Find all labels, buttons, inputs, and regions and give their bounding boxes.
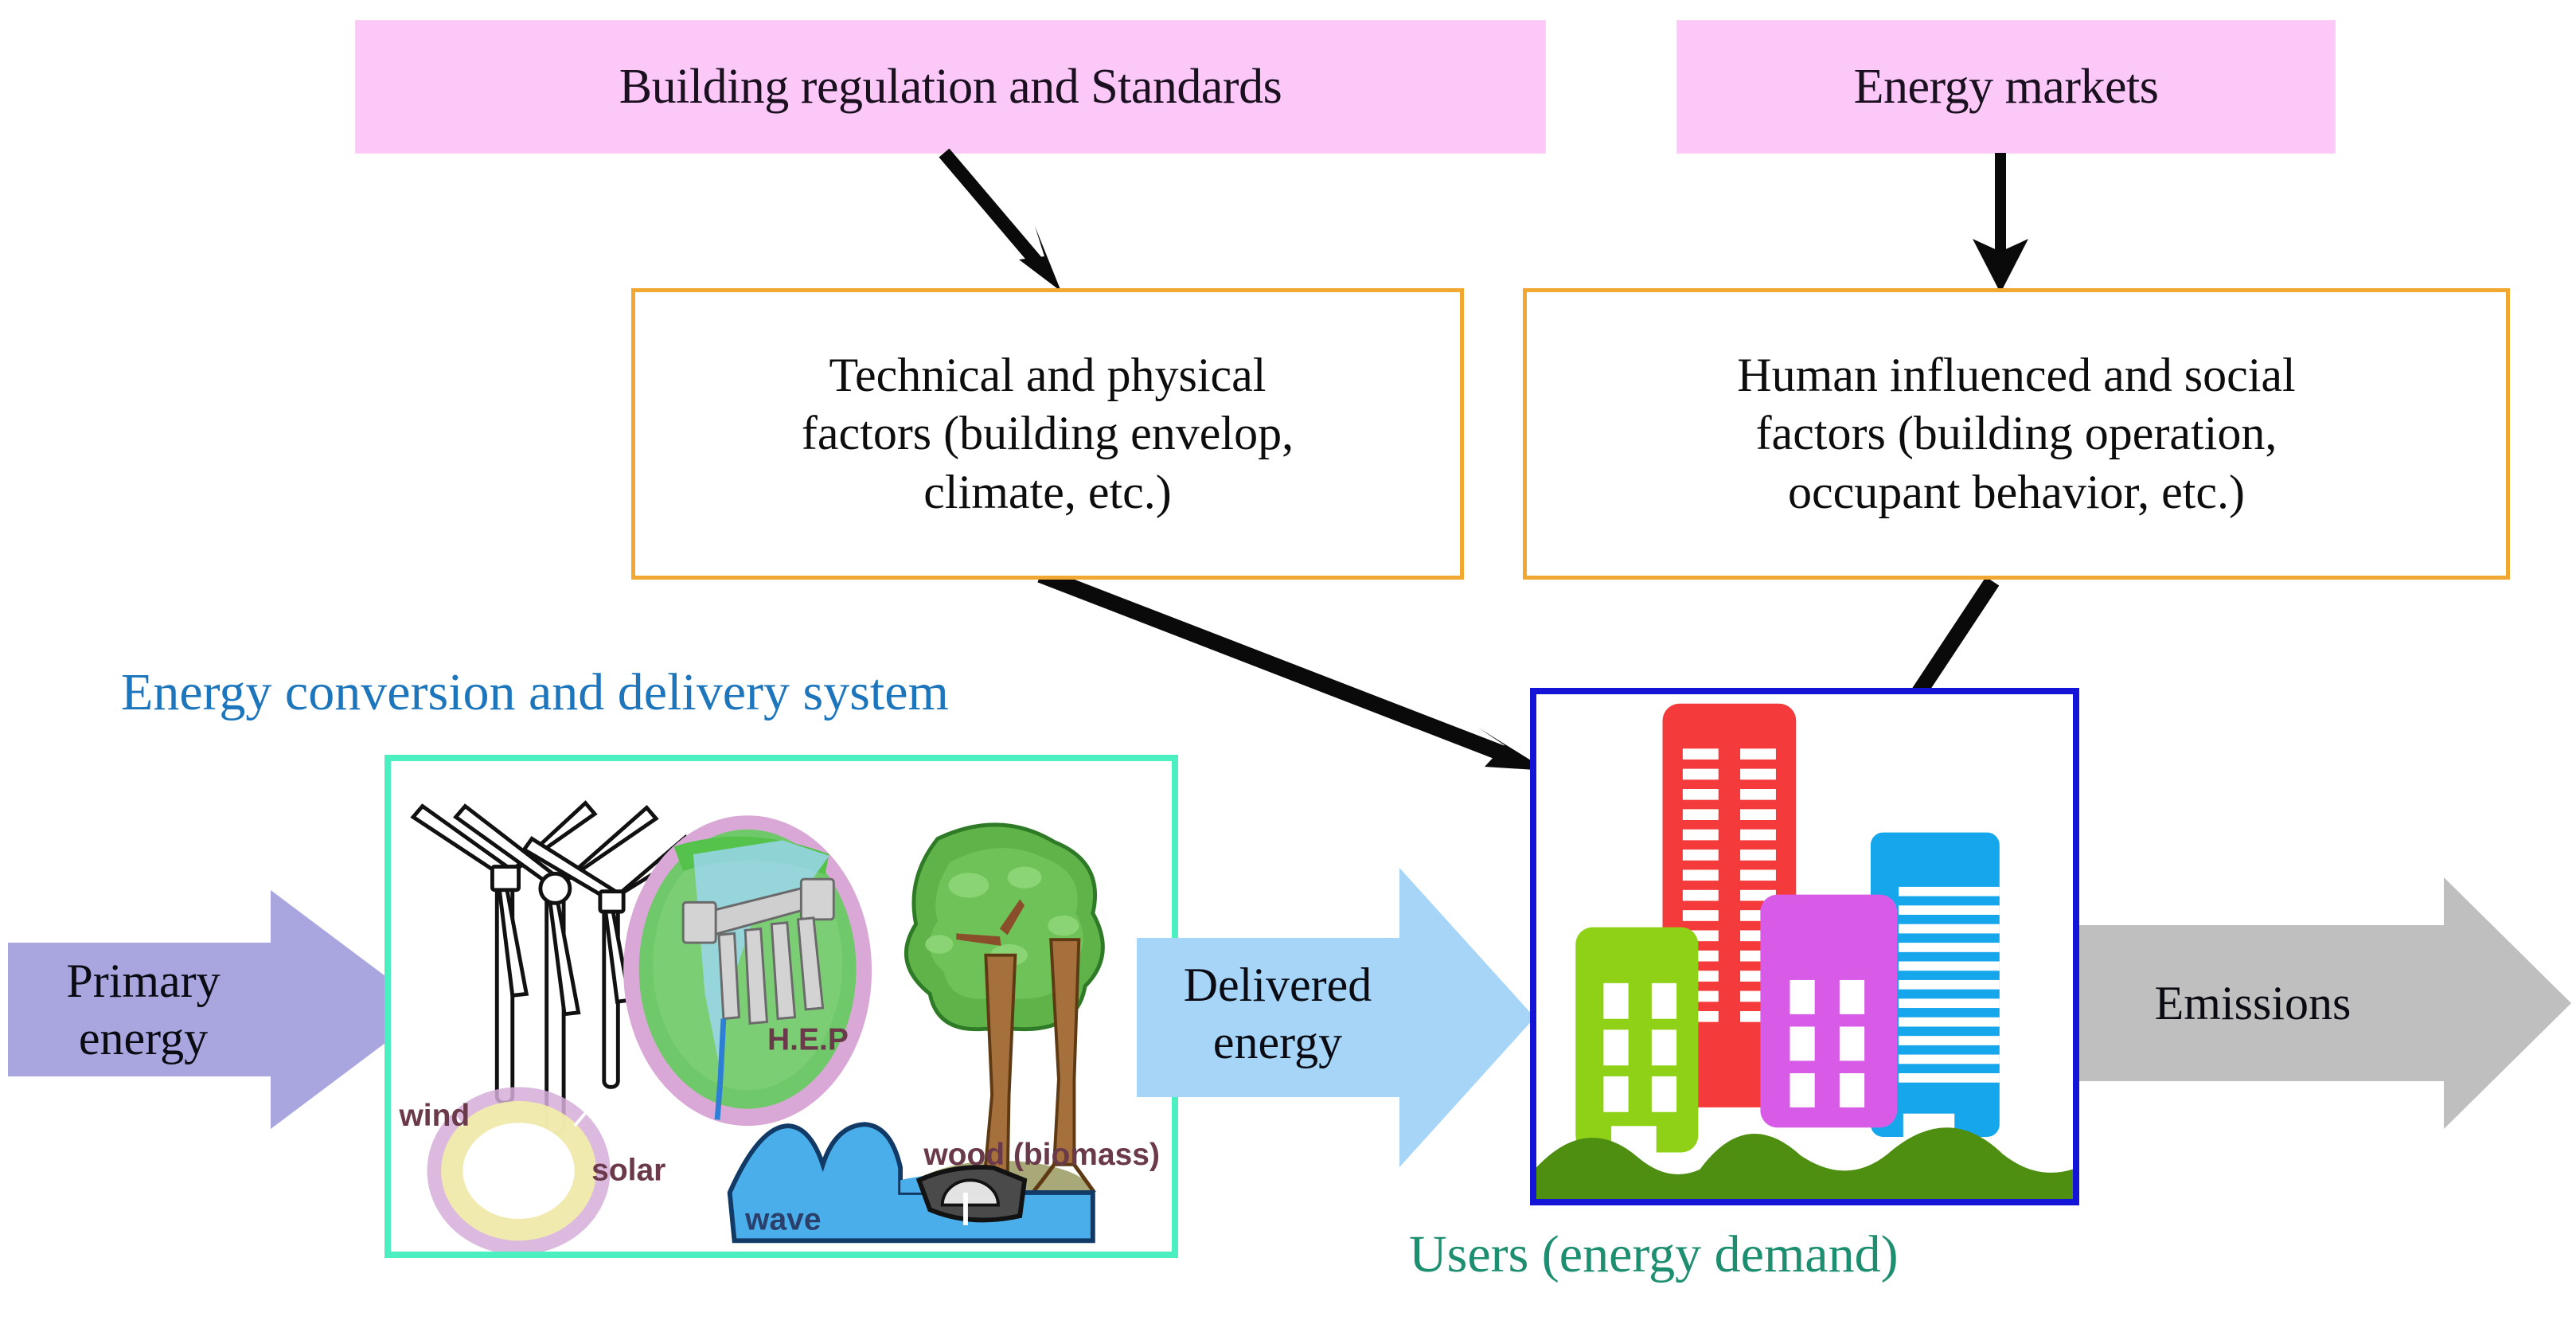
factor-box-technical-physical: Technical and physical factors (building… <box>631 288 1464 580</box>
flow-arrow-emissions-label: Emissions <box>2070 947 2436 1059</box>
wind-label: wind <box>398 1099 470 1133</box>
energy-sources-clipart: H.E.P wood (biomass) <box>391 761 1172 1252</box>
emissions-line1: Emissions <box>2155 977 2352 1029</box>
building-magenta <box>1760 895 1897 1128</box>
caption-users-energy-demand: Users (energy demand) <box>1409 1224 1899 1285</box>
arrow-markets-to-human <box>1973 153 2028 293</box>
top-box-building-regulation-label: Building regulation and Standards <box>619 59 1282 115</box>
city-buildings-clipart <box>1536 694 2073 1199</box>
arrow-technical-to-users <box>1040 575 1548 771</box>
caption-energy-conversion: Energy conversion and delivery system <box>121 662 949 723</box>
top-box-building-regulation: Building regulation and Standards <box>356 21 1545 153</box>
delivered-energy-line2: energy <box>1146 1014 1409 1071</box>
hydroelectric-power-clipart: H.E.P <box>623 815 872 1126</box>
factor-technical-line1: Technical and physical <box>802 346 1294 404</box>
solar-label: solar <box>591 1153 665 1187</box>
primary-energy-line2: energy <box>24 1010 263 1067</box>
top-box-energy-markets-label: Energy markets <box>1854 59 2159 115</box>
factor-human-line1: Human influenced and social <box>1737 346 2295 404</box>
energy-conversion-box: H.E.P wood (biomass) <box>384 755 1178 1258</box>
flow-arrow-delivered-energy-label: Delivered energy <box>1146 930 1409 1097</box>
caption-energy-conversion-label: Energy conversion and delivery system <box>121 663 949 721</box>
factor-technical-line2: factors (building envelop, <box>802 404 1294 463</box>
factor-technical-line3: climate, etc.) <box>802 463 1294 521</box>
top-box-energy-markets: Energy markets <box>1677 21 2335 153</box>
hep-label: H.E.P <box>767 1023 849 1057</box>
caption-users-label: Users (energy demand) <box>1409 1225 1899 1283</box>
delivered-energy-line1: Delivered <box>1146 956 1409 1014</box>
users-city-box <box>1530 688 2079 1205</box>
building-green <box>1575 928 1698 1174</box>
primary-energy-line1: Primary <box>24 952 263 1010</box>
wave-label: wave <box>744 1203 821 1237</box>
factor-box-human-social: Human influenced and social factors (bui… <box>1523 288 2510 580</box>
arrow-regulation-to-technical <box>944 153 1061 291</box>
flow-arrow-primary-energy-label: Primary energy <box>24 930 263 1089</box>
factor-human-line2: factors (building operation, <box>1737 404 2295 463</box>
factor-human-line3: occupant behavior, etc.) <box>1737 463 2295 521</box>
